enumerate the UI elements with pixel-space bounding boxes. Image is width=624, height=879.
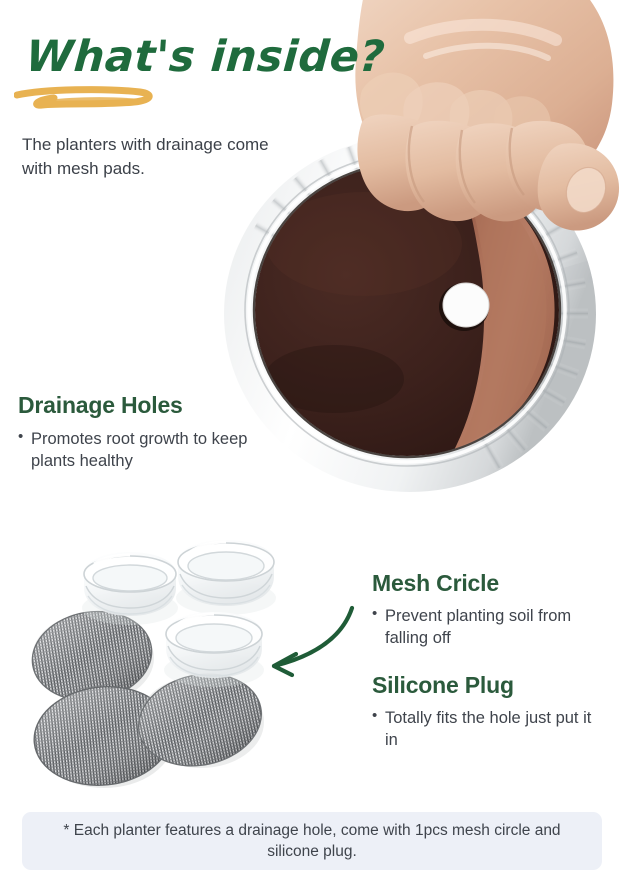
intro-text: The planters with drainage come with mes… bbox=[22, 133, 284, 181]
silicone-plug bbox=[82, 552, 178, 625]
mesh-circle bbox=[130, 663, 270, 777]
plug-bullet: Totally fits the hole just put it in bbox=[372, 707, 604, 752]
hand bbox=[355, 0, 619, 231]
footer-note: * Each planter features a drainage hole,… bbox=[22, 812, 602, 870]
parts-photo-svg bbox=[8, 530, 368, 805]
parts-callout-arrow bbox=[244, 602, 364, 678]
drainage-heading: Drainage Holes bbox=[18, 392, 268, 419]
drainage-hole bbox=[439, 283, 489, 331]
page-title: What's inside? bbox=[24, 32, 386, 82]
section-silicone-plug: Silicone Plug Totally fits the hole just… bbox=[372, 672, 604, 752]
footer-note-text: * Each planter features a drainage hole,… bbox=[44, 820, 580, 863]
section-drainage-holes: Drainage Holes Promotes root growth to k… bbox=[18, 392, 268, 473]
title-underline-swoosh bbox=[14, 86, 160, 112]
mesh-circle bbox=[26, 603, 158, 709]
drainage-bullet: Promotes root growth to keep plants heal… bbox=[18, 428, 268, 473]
plug-heading: Silicone Plug bbox=[372, 672, 604, 699]
planter-interior bbox=[255, 164, 559, 456]
silicone-plug bbox=[176, 540, 276, 615]
mesh-circle bbox=[29, 680, 176, 792]
section-mesh-circle: Mesh Cricle Prevent planting soil from f… bbox=[372, 570, 604, 650]
arrow-icon bbox=[244, 602, 364, 678]
mesh-bullet: Prevent planting soil from falling off bbox=[372, 605, 604, 650]
silicone-plug bbox=[164, 612, 264, 687]
parts-photo bbox=[8, 530, 368, 805]
mesh-heading: Mesh Cricle bbox=[372, 570, 604, 597]
